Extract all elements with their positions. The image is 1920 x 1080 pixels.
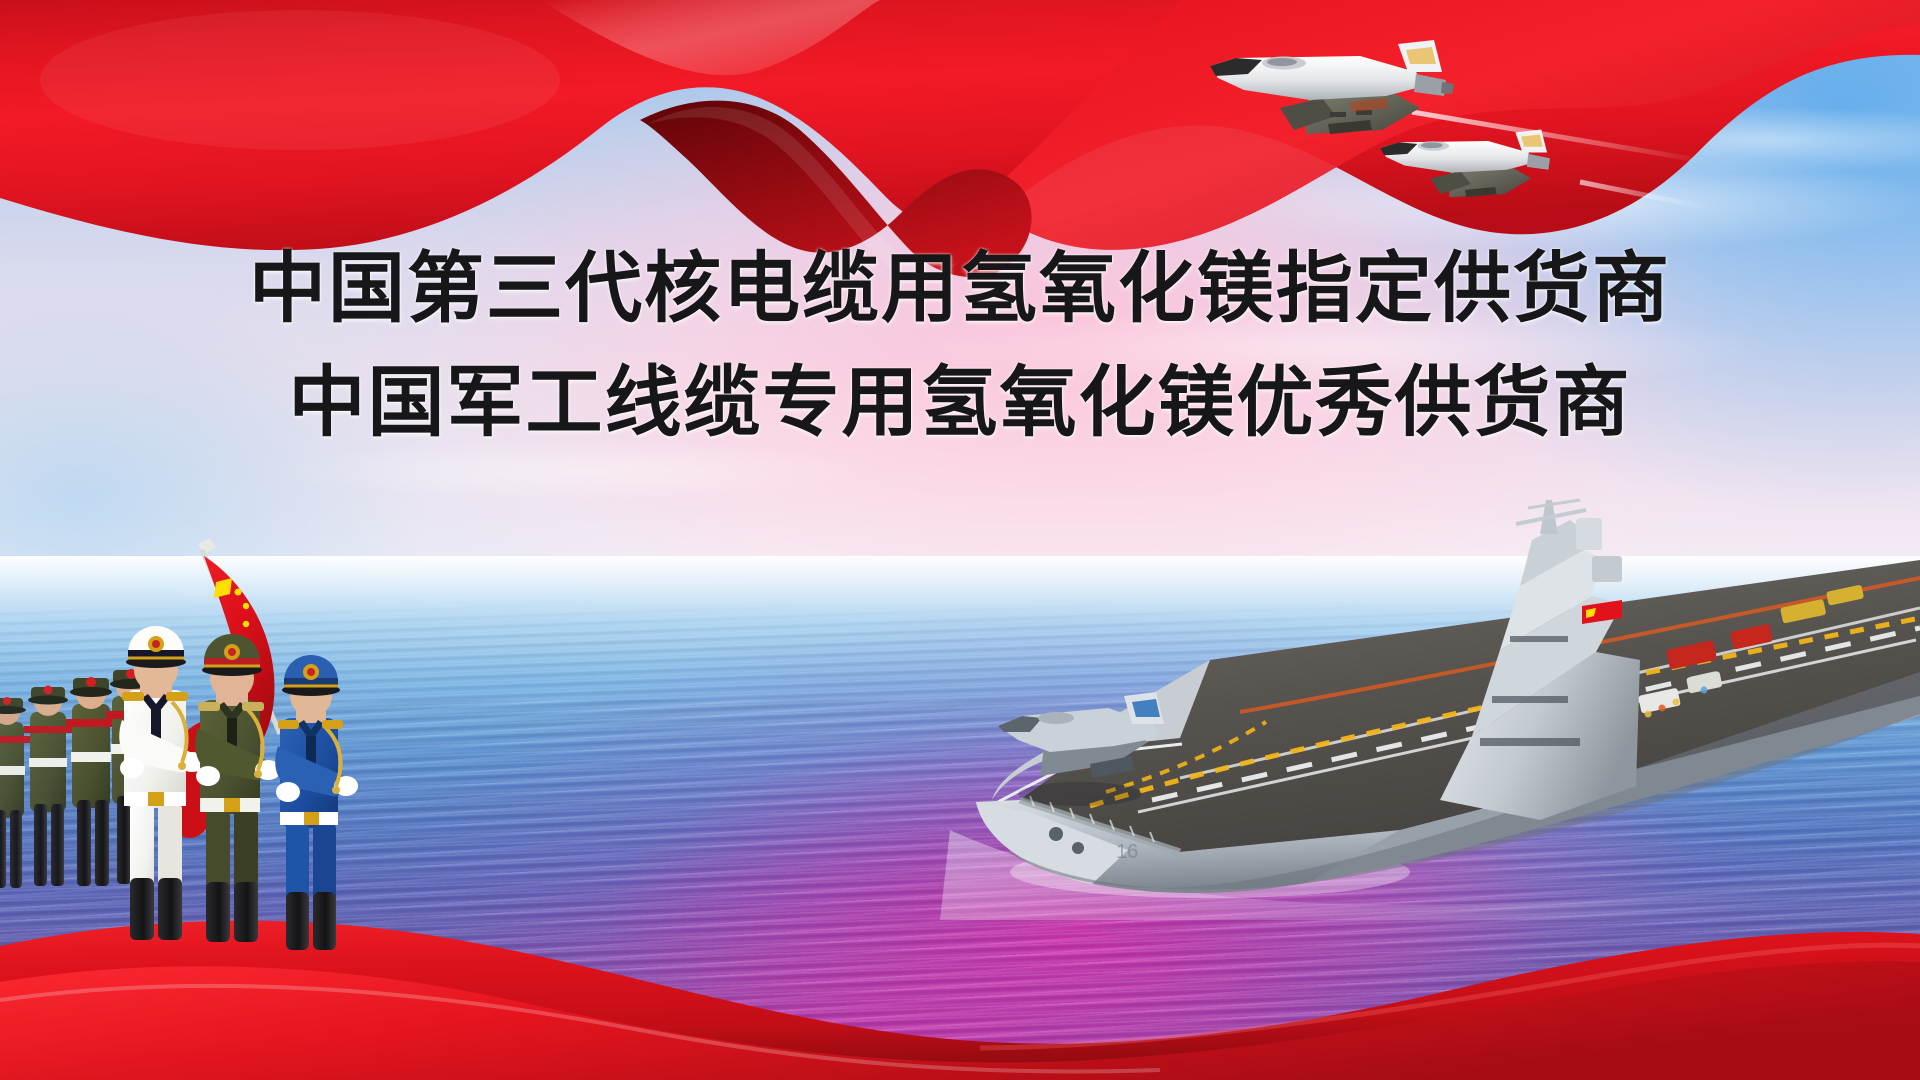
guard-belt-buckle — [304, 812, 319, 825]
anchor-hawse — [1049, 827, 1063, 841]
page-title-line-2: 中国军工线缆专用氢氧化镁优秀供货商 — [0, 352, 1920, 456]
flag-gloss-left — [40, 10, 560, 150]
guard-neck — [296, 710, 326, 723]
guard-leg — [117, 796, 131, 884]
deck-jet-tail-marking — [1132, 699, 1160, 717]
flag-small-star — [235, 589, 242, 596]
jet-exhaust — [1441, 82, 1454, 94]
guard-leg — [34, 804, 47, 886]
guard-cap-badge — [86, 677, 96, 687]
guard-belt — [71, 752, 111, 762]
guard-leg — [95, 800, 109, 886]
headline-block: 中国第三代核电缆用氢氧化镁指定供货商 中国军工线缆专用氢氧化镁优秀供货商 — [0, 238, 1920, 456]
hull-number: 16 — [1116, 841, 1138, 863]
guard-boot — [313, 892, 336, 950]
fighter-jet — [1210, 40, 1454, 134]
guard-leg — [0, 810, 6, 888]
guard-cap-badge — [44, 686, 53, 695]
guard-cap-brim — [70, 687, 112, 697]
guard-glove — [120, 758, 144, 778]
aiguillette-tip — [254, 770, 262, 778]
honor-guard-group — [0, 520, 410, 890]
poster-canvas: 中国第三代核电缆用氢氧化镁指定供货商 中国军工线缆专用氢氧化镁优秀供货商 — [0, 0, 1920, 1080]
guard-boot — [158, 878, 182, 940]
guard-cap-badge — [3, 697, 11, 705]
fighter-jet-formation — [1150, 20, 1710, 210]
guard-cap-badge-center — [307, 668, 315, 676]
guard-boot — [286, 892, 309, 950]
guard-shoulder-board — [278, 720, 299, 729]
jet-canopy-glass — [1267, 58, 1297, 66]
aircraft-carrier: 16 — [880, 500, 1920, 920]
jet-contrail — [1580, 182, 1710, 208]
guard-glove — [196, 766, 220, 786]
guard-belt — [29, 758, 67, 767]
guard-leg — [51, 804, 64, 886]
guard-boot — [234, 882, 258, 942]
jet-pylon — [1330, 112, 1346, 117]
deck-jet-canopy — [1038, 712, 1074, 724]
jet-tail-marking — [1521, 134, 1543, 146]
guard-cap-badge-center — [228, 648, 236, 656]
jet-tail-marking — [1406, 47, 1436, 64]
guard-belt-buckle — [224, 798, 240, 812]
guard-leg — [10, 810, 22, 888]
guard-boot — [130, 878, 154, 940]
guard-belt — [0, 766, 25, 775]
guard-shoulder-board — [242, 702, 264, 711]
guard-cap-badge-center — [152, 640, 160, 648]
phased-array-radar — [1576, 518, 1602, 550]
guard-shoulder-board — [66, 719, 116, 727]
guard-cap-brim — [28, 696, 68, 705]
guard-belt-buckle — [148, 792, 164, 806]
guard-shoulder-board — [122, 692, 144, 701]
guard-glove — [276, 782, 300, 802]
aiguillette-tip — [178, 762, 186, 770]
deck-jet-shadow — [1018, 782, 1142, 806]
flag-small-star — [243, 621, 249, 627]
guard-boot — [206, 882, 230, 942]
phased-array-radar — [1592, 556, 1622, 582]
fighter-jet — [1380, 129, 1550, 197]
jet-engine-nozzle — [1527, 154, 1550, 170]
anchor-hawse — [1072, 842, 1084, 854]
radar-yardarm — [1528, 500, 1580, 508]
guard-shoulder-board — [198, 702, 220, 711]
flag-small-star — [243, 603, 249, 609]
guard-shoulder-board — [0, 736, 30, 743]
guard-shoulder-board — [24, 726, 72, 733]
guard-leg — [77, 800, 91, 886]
page-title-line-1: 中国第三代核电缆用氢氧化镁指定供货商 — [0, 238, 1920, 342]
jet-canopy-glass — [1421, 142, 1443, 148]
aiguillette-tip — [332, 786, 340, 794]
guard-shoulder-board — [322, 720, 343, 729]
guard-shoulder-board — [166, 692, 188, 701]
